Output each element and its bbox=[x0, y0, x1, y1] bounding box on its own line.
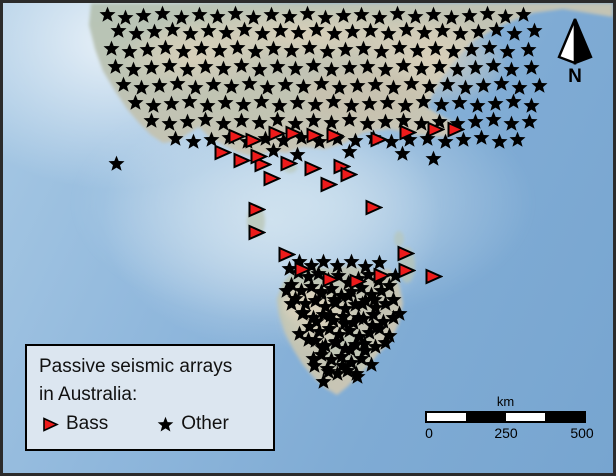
scale-bar-segment bbox=[466, 413, 505, 421]
legend-label-other: Other bbox=[181, 410, 229, 438]
north-arrow-icon bbox=[553, 17, 597, 69]
scale-bar-segment bbox=[427, 413, 466, 421]
map-frame: N Passive seismic arrays in Australia: B… bbox=[0, 0, 616, 476]
legend: Passive seismic arrays in Australia: Bas… bbox=[25, 344, 275, 451]
legend-title-line-1: Passive seismic arrays bbox=[39, 353, 261, 381]
scale-bar-graphic bbox=[425, 411, 586, 423]
legend-label-bass: Bass bbox=[66, 410, 108, 438]
triangle-right-icon bbox=[39, 417, 61, 432]
north-arrow-label: N bbox=[553, 67, 597, 86]
legend-item-bass: Bass bbox=[39, 410, 108, 438]
north-arrow: N bbox=[553, 17, 597, 93]
scale-bar-segment bbox=[506, 413, 545, 421]
scale-bar-labels: 0 250 500 bbox=[425, 424, 586, 442]
legend-symbol-row: Bass Other bbox=[39, 410, 261, 438]
scale-bar-segment bbox=[545, 413, 584, 421]
scale-bar-label-mid: 250 bbox=[494, 424, 517, 442]
scale-bar-label-min: 0 bbox=[425, 424, 433, 442]
scale-bar: km 0 250 500 bbox=[425, 395, 586, 442]
scale-bar-label-max: 500 bbox=[570, 424, 593, 442]
scale-bar-unit: km bbox=[425, 395, 586, 409]
legend-item-other: Other bbox=[154, 410, 229, 438]
star-icon bbox=[154, 416, 176, 433]
legend-title-line-2: in Australia: bbox=[39, 381, 261, 409]
